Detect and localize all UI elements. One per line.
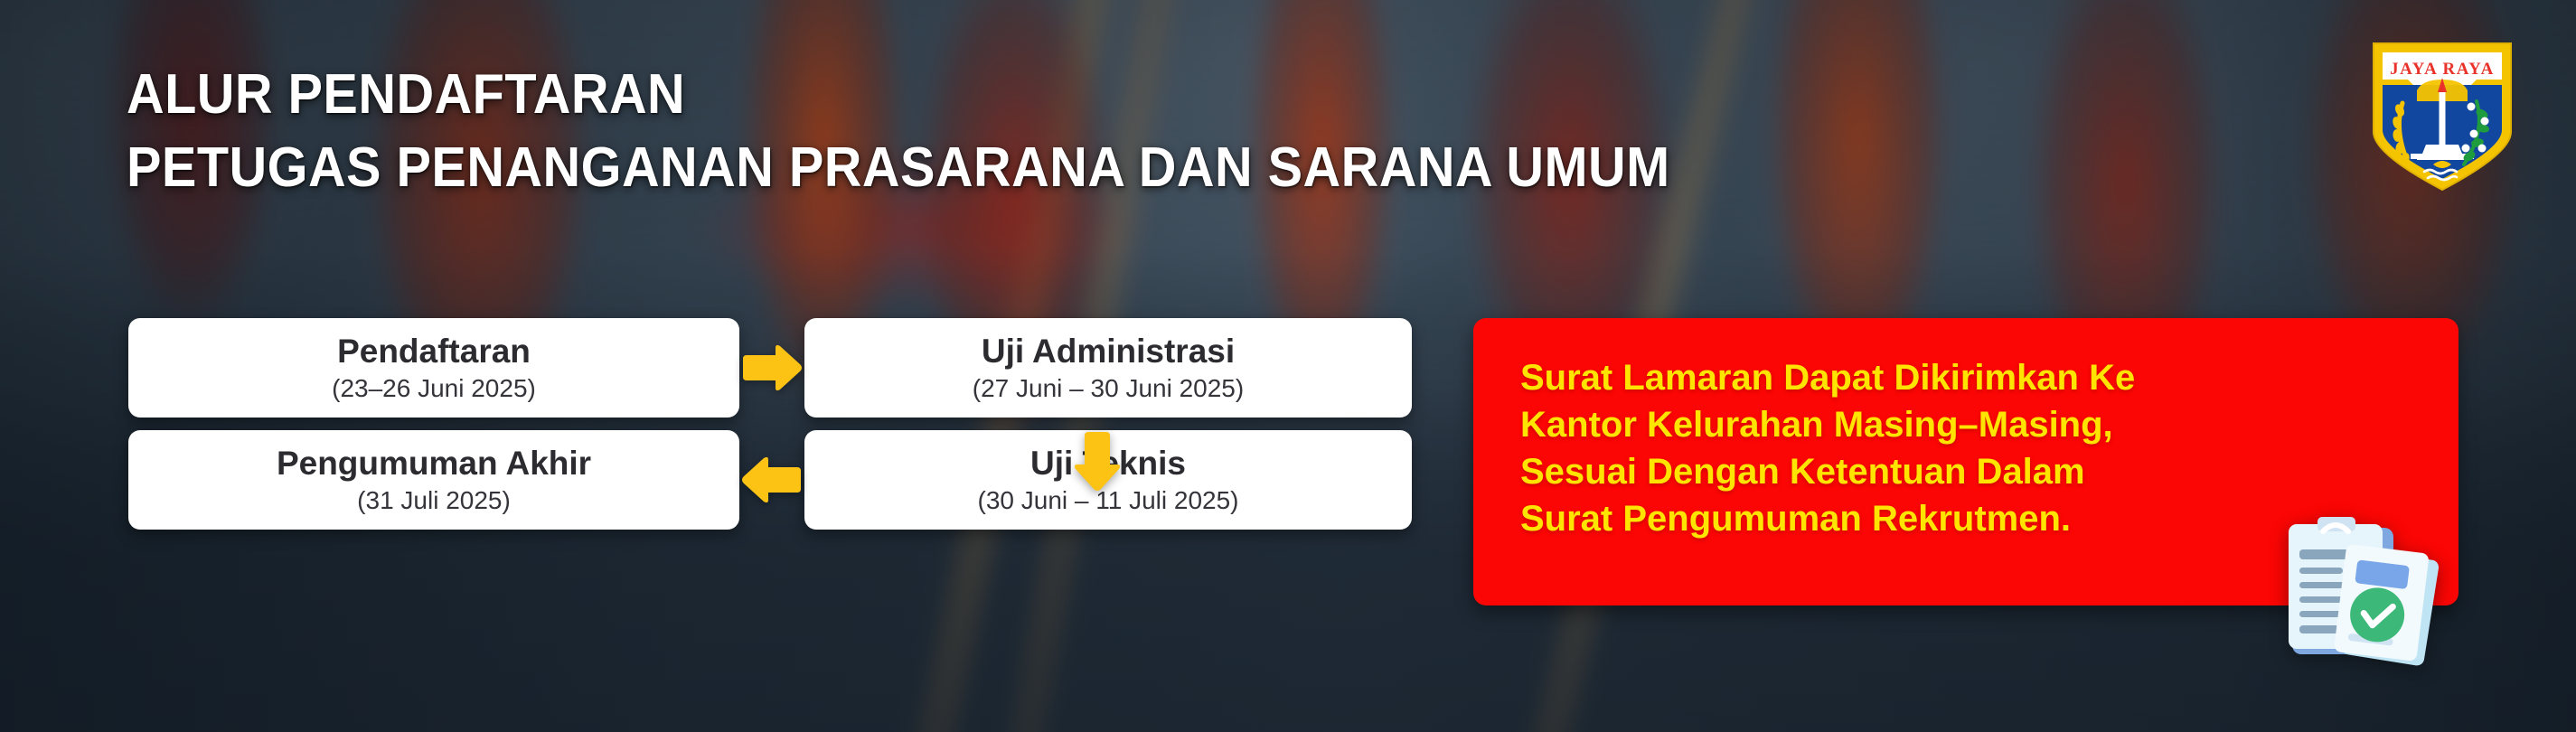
flow-step-date: (31 Juli 2025)	[357, 486, 511, 514]
flow-step-date: (27 Juni – 30 Juni 2025)	[973, 374, 1244, 402]
clipboard-check-icon	[2287, 511, 2468, 692]
dki-jakarta-emblem-icon: JAYA RAYA	[2370, 38, 2515, 193]
note-line: Sesuai Dengan Ketentuan Dalam	[1520, 448, 2411, 495]
flow-step-title: Pengumuman Akhir	[277, 446, 591, 481]
flow-step-pendaftaran[interactable]: Pendaftaran (23–26 Juni 2025)	[128, 318, 739, 418]
flow-row-top: Pendaftaran (23–26 Juni 2025) Uji Admini…	[128, 318, 1412, 418]
flow-step-uji-administrasi[interactable]: Uji Administrasi (27 Juni – 30 Juni 2025…	[804, 318, 1412, 418]
arrow-right-icon	[739, 343, 804, 393]
note-line: Surat Lamaran Dapat Dikirimkan Ke	[1520, 354, 2411, 401]
arrow-left-icon	[739, 455, 804, 505]
emblem-motto: JAYA RAYA	[2390, 60, 2495, 79]
flow-step-title: Uji Administrasi	[982, 333, 1235, 369]
recruitment-flow-banner: ALUR PENDAFTARAN PETUGAS PENANGANAN PRAS…	[0, 0, 2576, 732]
note-line: Kantor Kelurahan Masing–Masing,	[1520, 401, 2411, 448]
arrow-down-icon	[1072, 428, 1123, 498]
flow-step-pengumuman-akhir[interactable]: Pengumuman Akhir (31 Juli 2025)	[128, 430, 739, 530]
note-line: Surat Pengumuman Rekrutmen.	[1520, 495, 2411, 542]
flow-row-bottom: Pengumuman Akhir (31 Juli 2025) Uji Tekn…	[128, 430, 1412, 530]
page-title: ALUR PENDAFTARAN PETUGAS PENANGANAN PRAS…	[127, 65, 2251, 199]
flow-step-date: (23–26 Juni 2025)	[332, 374, 536, 402]
registration-flow-diagram: Pendaftaran (23–26 Juni 2025) Uji Admini…	[128, 318, 1412, 530]
title-line-1: ALUR PENDAFTARAN	[127, 65, 2102, 126]
flow-step-title: Pendaftaran	[337, 333, 531, 369]
title-line-2: PETUGAS PENANGANAN PRASARANA DAN SARANA …	[127, 138, 2102, 199]
